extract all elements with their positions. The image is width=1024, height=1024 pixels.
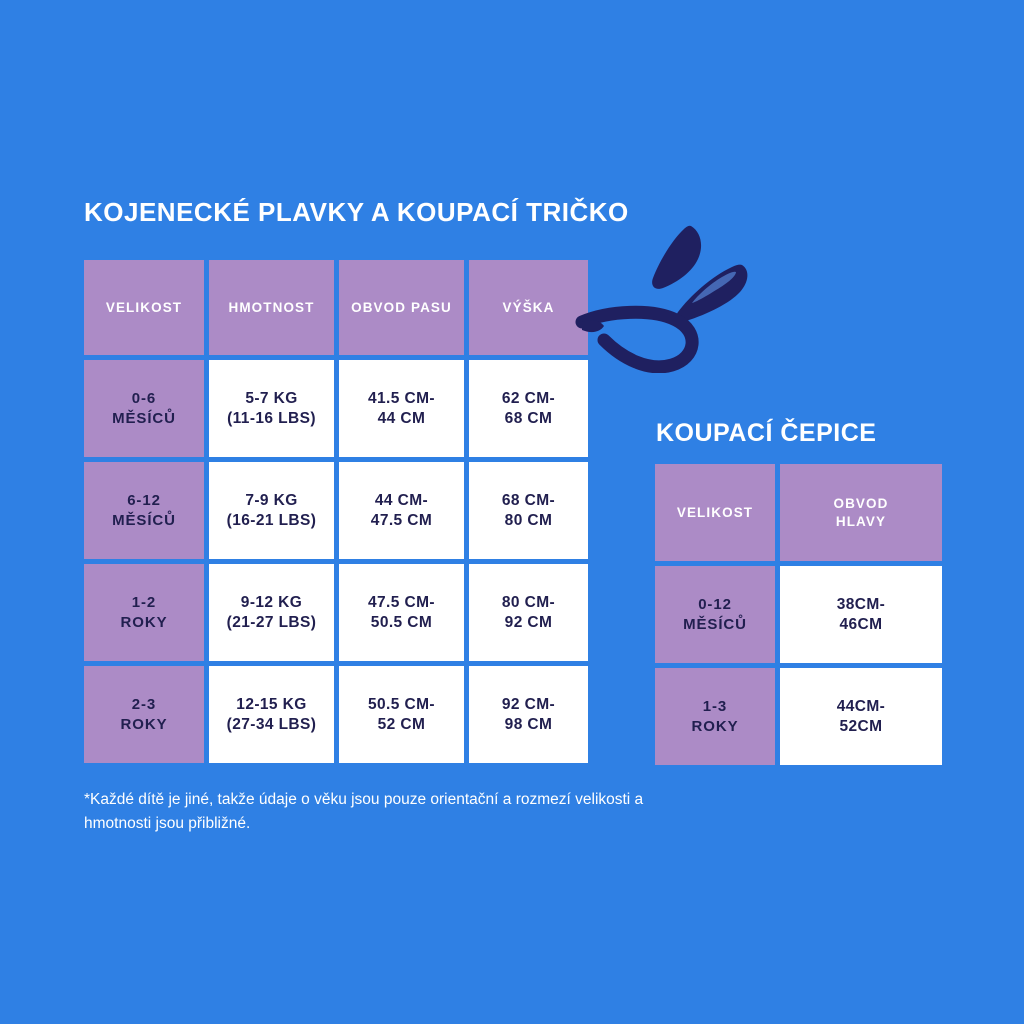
cell-size: 0-6 MĚSÍCŮ: [84, 360, 204, 457]
size-table-swim-cap: VELIKOST OBVOD HLAVY 0-12 MĚSÍCŮ 38CM- 4…: [655, 464, 942, 765]
table-row: 2-3 ROKY 12-15 KG (27-34 LBS) 50.5 CM- 5…: [84, 666, 588, 763]
table-row: 6-12 MĚSÍCŮ 7-9 KG (16-21 LBS) 44 CM- 47…: [84, 462, 588, 559]
table-row: 0-12 MĚSÍCŮ 38CM- 46CM: [655, 566, 942, 663]
cell-height: 62 CM- 68 CM: [469, 360, 588, 457]
cell-height: 68 CM- 80 CM: [469, 462, 588, 559]
cell-head-circumference: 44CM- 52CM: [780, 668, 942, 765]
column-header-obvod-hlavy: OBVOD HLAVY: [780, 464, 942, 561]
table-header-row: VELIKOST OBVOD HLAVY: [655, 464, 942, 561]
cell-size: 6-12 MĚSÍCŮ: [84, 462, 204, 559]
page-title: KOJENECKÉ PLAVKY A KOUPACÍ TRIČKO: [84, 197, 629, 228]
size-table-swimwear: VELIKOST HMOTNOST OBVOD PASU VÝŠKA 0-6 M…: [84, 260, 588, 763]
droplet-outline-icon: [676, 265, 747, 322]
cell-size: 1-3 ROKY: [655, 668, 775, 765]
cell-waist: 50.5 CM- 52 CM: [339, 666, 464, 763]
table-row: 1-3 ROKY 44CM- 52CM: [655, 668, 942, 765]
cell-height: 92 CM- 98 CM: [469, 666, 588, 763]
water-splash-icon: [560, 218, 790, 373]
column-header-hmotnost: HMOTNOST: [209, 260, 334, 355]
cell-waist: 41.5 CM- 44 CM: [339, 360, 464, 457]
cell-size: 0-12 MĚSÍCŮ: [655, 566, 775, 663]
cell-weight: 9-12 KG (21-27 LBS): [209, 564, 334, 661]
footnote-text: *Každé dítě je jiné, takže údaje o věku …: [84, 788, 714, 837]
cell-size: 1-2 ROKY: [84, 564, 204, 661]
table-row: 1-2 ROKY 9-12 KG (21-27 LBS) 47.5 CM- 50…: [84, 564, 588, 661]
section-title-swim-cap: KOUPACÍ ČEPICE: [656, 419, 876, 448]
column-header-velikost: VELIKOST: [655, 464, 775, 561]
cell-weight: 12-15 KG (27-34 LBS): [209, 666, 334, 763]
table-row: 0-6 MĚSÍCŮ 5-7 KG (11-16 LBS) 41.5 CM- 4…: [84, 360, 588, 457]
cell-size: 2-3 ROKY: [84, 666, 204, 763]
table-header-row: VELIKOST HMOTNOST OBVOD PASU VÝŠKA: [84, 260, 588, 355]
cell-weight: 5-7 KG (11-16 LBS): [209, 360, 334, 457]
droplet-highlight-icon: [692, 272, 736, 303]
cell-height: 80 CM- 92 CM: [469, 564, 588, 661]
infographic-canvas: KOJENECKÉ PLAVKY A KOUPACÍ TRIČKO VELIKO…: [0, 0, 1024, 1024]
droplet-filled-icon: [652, 226, 701, 289]
column-header-obvod-pasu: OBVOD PASU: [339, 260, 464, 355]
column-header-vyska: VÝŠKA: [469, 260, 588, 355]
cell-waist: 44 CM- 47.5 CM: [339, 462, 464, 559]
splash-loop-icon: [582, 312, 692, 367]
column-header-velikost: VELIKOST: [84, 260, 204, 355]
cell-head-circumference: 38CM- 46CM: [780, 566, 942, 663]
cell-weight: 7-9 KG (16-21 LBS): [209, 462, 334, 559]
cell-waist: 47.5 CM- 50.5 CM: [339, 564, 464, 661]
